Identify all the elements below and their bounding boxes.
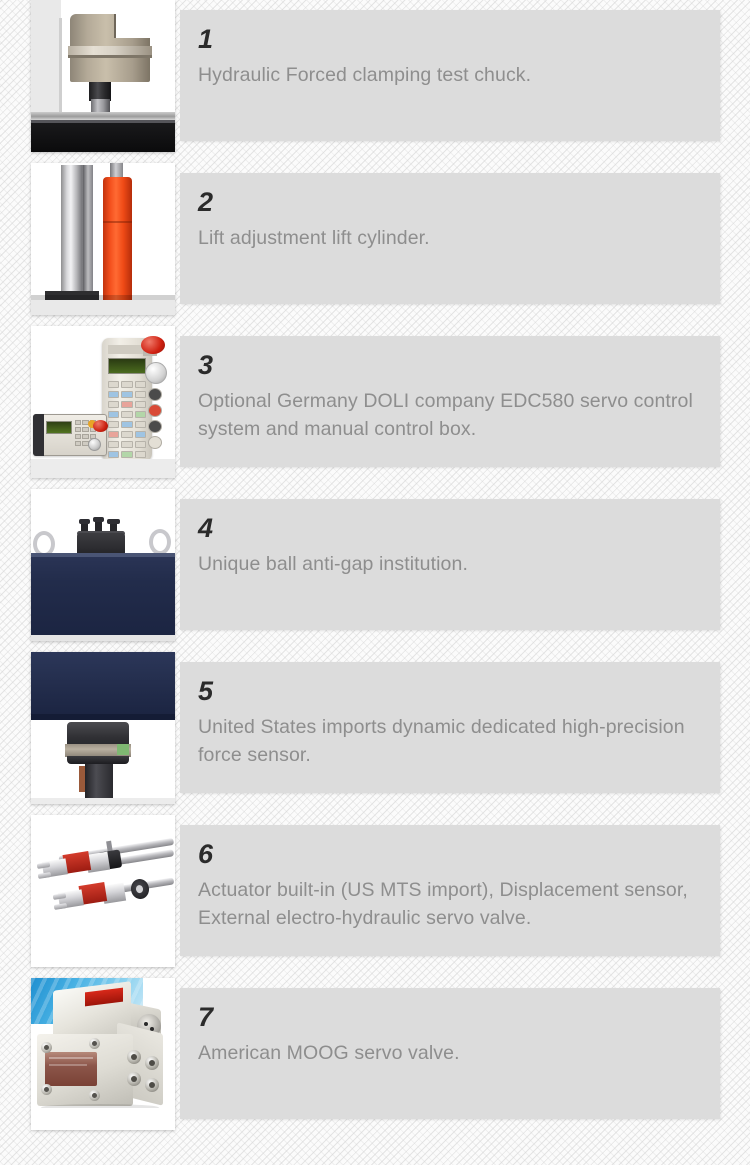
ball-anti-gap-institution-photo: [31, 489, 175, 641]
feature-text-panel-1: 1 Hydraulic Forced clamping test chuck.: [180, 10, 720, 141]
feature-row: 2 Lift adjustment lift cylinder.: [0, 163, 750, 315]
lift-cylinder-photo: [31, 163, 175, 315]
feature-thumbnail-3: [31, 326, 175, 478]
feature-text-panel-5: 5 United States imports dynamic dedicate…: [180, 662, 720, 793]
feature-row: 5 United States imports dynamic dedicate…: [0, 652, 750, 804]
feature-row: 4 Unique ball anti-gap institution.: [0, 489, 750, 641]
feature-number-3: 3: [198, 352, 702, 379]
feature-thumbnail-5: [31, 652, 175, 804]
feature-description-6: Actuator built-in (US MTS import), Displ…: [198, 877, 702, 932]
feature-thumbnail-4: [31, 489, 175, 641]
feature-row: 7 American MOOG servo valve.: [0, 978, 750, 1130]
feature-list: 1 Hydraulic Forced clamping test chuck. …: [0, 0, 750, 1165]
feature-text-panel-3: 3 Optional Germany DOLI company EDC580 s…: [180, 336, 720, 467]
feature-text-panel-2: 2 Lift adjustment lift cylinder.: [180, 173, 720, 304]
displacement-sensor-photo: [31, 815, 175, 967]
feature-description-5: United States imports dynamic dedicated …: [198, 714, 702, 769]
feature-row: 3 Optional Germany DOLI company EDC580 s…: [0, 326, 750, 478]
feature-thumbnail-6: [31, 815, 175, 967]
feature-description-1: Hydraulic Forced clamping test chuck.: [198, 62, 702, 90]
feature-number-4: 4: [198, 515, 702, 542]
feature-description-7: American MOOG servo valve.: [198, 1040, 702, 1068]
feature-number-1: 1: [198, 26, 702, 53]
moog-servo-valve-photo: [31, 978, 175, 1130]
doli-edc580-control-system-photo: [31, 326, 175, 478]
feature-thumbnail-7: [31, 978, 175, 1130]
feature-description-2: Lift adjustment lift cylinder.: [198, 225, 702, 253]
feature-text-panel-6: 6 Actuator built-in (US MTS import), Dis…: [180, 825, 720, 956]
force-sensor-photo: [31, 652, 175, 804]
feature-row: 1 Hydraulic Forced clamping test chuck.: [0, 0, 750, 152]
feature-number-5: 5: [198, 678, 702, 705]
feature-number-6: 6: [198, 841, 702, 868]
hydraulic-clamping-chuck-photo: [31, 0, 175, 152]
feature-number-7: 7: [198, 1004, 702, 1031]
feature-thumbnail-1: [31, 0, 175, 152]
feature-text-panel-4: 4 Unique ball anti-gap institution.: [180, 499, 720, 630]
feature-row: 6 Actuator built-in (US MTS import), Dis…: [0, 815, 750, 967]
feature-description-4: Unique ball anti-gap institution.: [198, 551, 702, 579]
feature-text-panel-7: 7 American MOOG servo valve.: [180, 988, 720, 1119]
feature-description-3: Optional Germany DOLI company EDC580 ser…: [198, 388, 702, 443]
feature-number-2: 2: [198, 189, 702, 216]
feature-thumbnail-2: [31, 163, 175, 315]
